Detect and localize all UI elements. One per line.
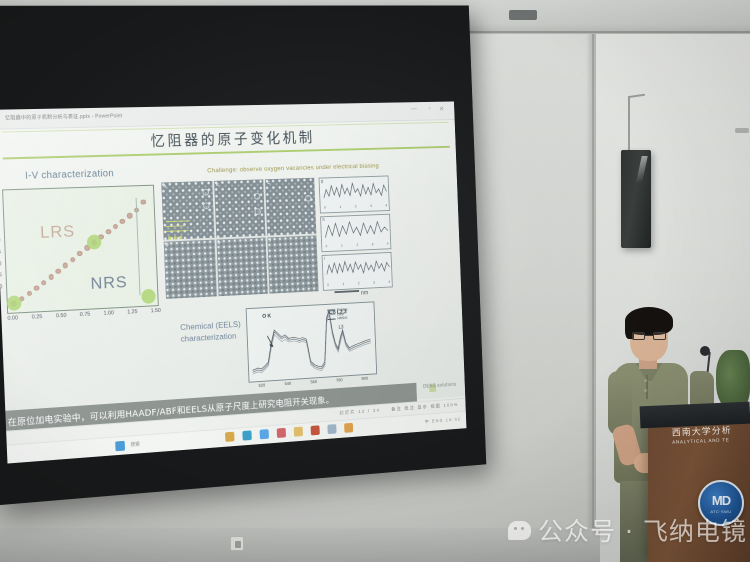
iv-data-point	[113, 224, 118, 230]
file-explorer-icon[interactable]	[225, 432, 235, 442]
haadf-panel-label: f	[269, 238, 271, 244]
speaker-cable	[628, 96, 630, 152]
ceiling-vent-icon	[509, 10, 537, 20]
mail-icon[interactable]	[327, 424, 336, 434]
slide-title: 忆阻器的原子变化机制	[0, 124, 456, 155]
profile-xtick: 1	[341, 244, 343, 248]
iv-xtick: 1.00	[104, 310, 115, 316]
haadf-image-grid: a b	[161, 178, 318, 299]
line-profile-chart: g 0 1 2 3 4	[319, 175, 390, 213]
speaker-glint	[636, 156, 648, 182]
line-profile-chart: i 0 1 2 3 4	[322, 252, 393, 291]
folder-icon[interactable]	[294, 427, 303, 437]
iv-highlight-point	[6, 296, 21, 312]
watermark-text: 公众号 · 飞纳电镜	[538, 512, 747, 548]
iv-data-point	[141, 200, 146, 206]
eels-section-label: Chemical (EELS) characterization	[180, 317, 254, 344]
projection-screen-frame: 忆阻器中的原子机制分析与表征.pptx - PowerPoint — ▫ ✕ 忆…	[0, 5, 486, 505]
eels-legend-item: HRS/O	[337, 316, 347, 320]
profile-trace	[325, 218, 389, 241]
profile-xtick: 4	[385, 204, 387, 208]
wall-corner-shadow	[586, 22, 596, 562]
chrome-icon[interactable]	[260, 429, 269, 439]
iv-ytick: 15	[0, 272, 2, 278]
podium-nameplate: 西南大学分析 ANALYTICAL AND TE	[671, 422, 750, 451]
browser-icon[interactable]	[344, 423, 353, 433]
profile-trace	[323, 179, 387, 202]
profile-trace	[326, 256, 390, 280]
eels-xtick: 560	[310, 379, 317, 384]
profile-xtick: 1	[343, 282, 345, 286]
iv-xtick: 0.00	[7, 315, 18, 322]
profile-xtick: 4	[388, 280, 390, 284]
profile-xtick: 2	[358, 282, 360, 286]
profile-xaxis: 0 1 2 3 4	[326, 242, 389, 248]
wall-speaker	[621, 150, 651, 248]
haadf-panel-label: a	[163, 183, 166, 189]
haadf-overlay-marks	[166, 220, 199, 240]
eels-xtick: 520	[258, 383, 265, 388]
iv-data-point	[56, 269, 62, 275]
iv-annotation-lrs: LRS	[40, 222, 76, 243]
eels-xtick: 540	[285, 381, 292, 386]
iv-data-point	[26, 291, 32, 297]
iv-xtick: 0.25	[32, 314, 43, 321]
iv-xtick: 1.50	[151, 308, 161, 314]
iv-highlight-point	[141, 289, 156, 304]
minimize-icon[interactable]: —	[411, 106, 417, 113]
haadf-panel: a	[161, 181, 214, 240]
scalebar	[335, 290, 360, 293]
wall-bracket	[735, 128, 749, 133]
powerpoint-icon[interactable]	[311, 425, 320, 435]
iv-data-point	[120, 219, 125, 225]
vendor-logo-text: DENS solutions	[423, 382, 456, 390]
haadf-panel-label: c	[267, 180, 270, 186]
iv-ytick: 5	[0, 296, 3, 302]
haadf-panel-label: b	[216, 182, 219, 188]
wechat-icon	[508, 521, 531, 540]
close-icon[interactable]: ✕	[439, 105, 444, 112]
system-tray[interactable]: 中 ENG 16:42	[425, 417, 461, 425]
iv-xtick: 0.75	[80, 312, 91, 318]
window-title: 忆阻器中的原子机制分析与表征.pptx - PowerPoint	[5, 112, 123, 121]
wall-power-socket	[230, 536, 244, 551]
iv-data-point	[34, 285, 40, 291]
iv-xtick: 0.50	[56, 313, 67, 319]
haadf-panel: b	[214, 179, 266, 237]
glasses-icon	[632, 332, 666, 340]
profile-xtick: 3	[370, 204, 372, 208]
iv-data-point	[127, 213, 132, 219]
iv-data-point	[106, 229, 111, 235]
profile-xaxis: 0 1 2 3 4	[324, 204, 387, 210]
profile-xtick: 3	[372, 242, 374, 246]
iv-section-label: I-V characterization	[25, 168, 114, 181]
iv-ytick: 30	[0, 238, 1, 244]
institution-logo-main: MD	[712, 493, 730, 508]
iv-ytick: 25	[0, 249, 1, 255]
view-controls[interactable]: 备注 批注 显示 视图 100%	[391, 402, 459, 412]
slide-counter: 幻灯片 12 / 34	[339, 408, 380, 417]
maximize-icon[interactable]: ▫	[428, 106, 430, 113]
profile-xtick: 2	[356, 243, 358, 247]
edge-icon[interactable]	[242, 430, 251, 440]
media-icon[interactable]	[277, 428, 286, 438]
eels-label-ok: O K	[262, 314, 271, 320]
powerpoint-slide[interactable]: 忆阻器的原子变化机制 I-V characterization Challeng…	[0, 120, 465, 429]
profile-xtick: 0	[327, 283, 329, 287]
iv-highlight-point	[87, 235, 102, 250]
line-profile-stack: g 0 1 2 3 4 h	[319, 175, 393, 290]
iv-data-point	[41, 280, 47, 286]
haadf-panel-label: e	[218, 240, 221, 246]
challenge-label: Challenge: observe oxygen vacancies unde…	[207, 163, 379, 175]
profile-xtick: 3	[373, 281, 375, 285]
iv-ytick: 20	[0, 261, 2, 267]
start-icon[interactable]	[115, 441, 125, 451]
profile-xaxis: 0 1 2 3 4	[327, 280, 390, 287]
haadf-panel: c	[265, 178, 316, 236]
search-input[interactable]: 搜索	[130, 441, 140, 449]
watermark: 公众号 · 飞纳电镜	[508, 512, 747, 548]
iv-data-point	[70, 257, 76, 263]
line-profile-chart: h 0 1 2 3 4	[320, 214, 391, 252]
profile-xtick: 4	[387, 242, 389, 246]
lecture-room-photo: 忆阻器中的原子机制分析与表征.pptx - PowerPoint — ▫ ✕ 忆…	[0, 0, 750, 562]
iv-characterization-chart: LRS NRS	[2, 185, 159, 314]
iv-ytick: 10	[0, 284, 2, 290]
profile-xtick: 0	[326, 244, 328, 248]
iv-data-point	[63, 263, 69, 269]
profile-panel-label: i	[324, 256, 325, 261]
projected-desktop[interactable]: 忆阻器中的原子机制分析与表征.pptx - PowerPoint — ▫ ✕ 忆…	[0, 101, 466, 463]
iv-xtick: 1.25	[127, 309, 138, 315]
haadf-panel: e	[216, 237, 268, 296]
iv-data-point	[77, 251, 83, 257]
eels-spectrum-chart: O K Co L2,3 L3 Pristine LRS HRS/O	[246, 301, 377, 382]
iv-scatter-plot	[3, 186, 158, 313]
haadf-panel: d	[164, 240, 217, 299]
eels-label-l3: L3	[338, 325, 343, 331]
iv-ytick: 0	[0, 307, 3, 313]
scalebar-label: nm	[361, 290, 368, 296]
eels-legend: Pristine LRS HRS/O	[327, 308, 348, 322]
profile-xtick: 2	[355, 205, 357, 209]
haadf-panel-label: d	[166, 242, 169, 248]
profile-xtick: 0	[324, 206, 326, 210]
eels-xtick: 780	[336, 377, 343, 382]
iv-data-point	[48, 274, 54, 280]
haadf-panel: f	[268, 235, 319, 293]
profile-xtick: 1	[340, 205, 342, 209]
iv-annotation-nrs: NRS	[90, 273, 128, 294]
eels-xtick: 800	[361, 376, 368, 381]
